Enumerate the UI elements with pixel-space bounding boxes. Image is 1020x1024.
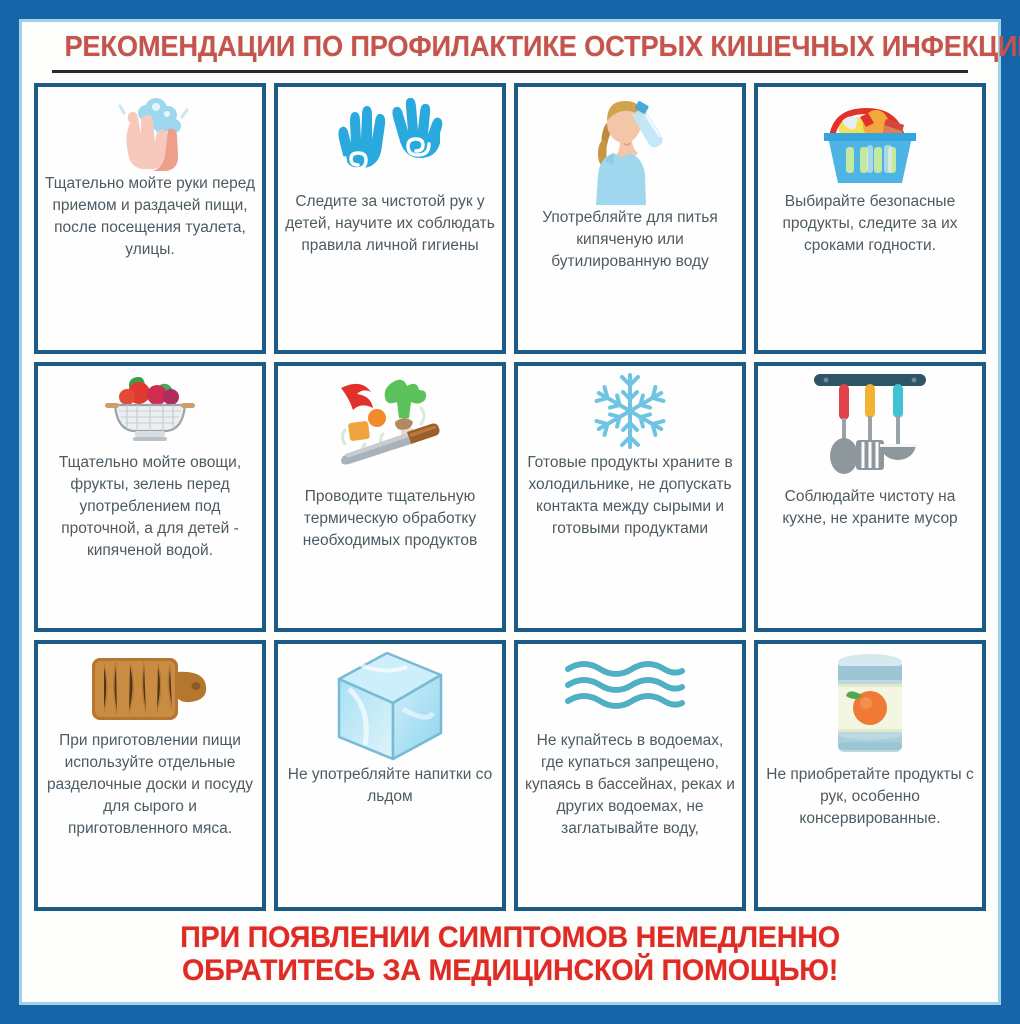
recommendation-card-9[interactable]: При приготовлении пищи используйте отдел… (34, 640, 266, 910)
card-caption: Соблюдайте чистоту на кухне, не храните … (762, 484, 978, 624)
knife-with-vegetables-icon (284, 372, 496, 484)
card-caption: Выбирайте безопасные продукты, следите з… (762, 189, 978, 345)
footer-section: ПРИ ПОЯВЛЕНИИ СИМПТОМОВ НЕМЕДЛЕННО ОБРАТ… (22, 915, 998, 1002)
poster-root: РЕКОМЕНДАЦИИ ПО ПРОФИЛАКТИКЕ ОСТРЫХ КИШЕ… (0, 0, 1020, 1024)
recommendation-card-11[interactable]: Не купайтесь в водоемах, где купаться за… (514, 640, 746, 910)
recommendation-card-3[interactable]: Употребляйте для питья кипяченую или бут… (514, 83, 746, 353)
poster-outer-frame: РЕКОМЕНДАЦИИ ПО ПРОФИЛАКТИКЕ ОСТРЫХ КИШЕ… (10, 10, 1010, 1014)
footer-line-2: ОБРАТИТЕСЬ ЗА МЕДИЦИНСКОЙ ПОМОЩЬЮ! (51, 954, 969, 988)
recommendation-card-12[interactable]: Не приобретайте продукты с рук, особенно… (754, 640, 986, 910)
card-caption: Не употребляйте напитки со льдом (282, 762, 498, 902)
poster-inner-frame: РЕКОМЕНДАЦИИ ПО ПРОФИЛАКТИКЕ ОСТРЫХ КИШЕ… (19, 19, 1001, 1005)
recommendation-card-8[interactable]: Соблюдайте чистоту на кухне, не храните … (754, 362, 986, 632)
footer-line-1: ПРИ ПОЯВЛЕНИИ СИМПТОМОВ НЕМЕДЛЕННО (51, 921, 969, 955)
woman-drinking-bottled-water-icon (524, 93, 736, 205)
card-caption: При приготовлении пищи используйте отдел… (42, 728, 258, 902)
recommendation-card-7[interactable]: Готовые продукты храните в холодильнике,… (514, 362, 746, 632)
canned-food-jar-icon (764, 650, 976, 762)
card-caption: Тщательно мойте овощи, фрукты, зелень пе… (42, 450, 258, 624)
page-title: РЕКОМЕНДАЦИИ ПО ПРОФИЛАКТИКЕ ОСТРЫХ КИШЕ… (64, 32, 955, 62)
recommendation-card-2[interactable]: Следите за чистотой рук у детей, научите… (274, 83, 506, 353)
recommendation-card-10[interactable]: Не употребляйте напитки со льдом (274, 640, 506, 910)
two-blue-hands-icon (284, 93, 496, 189)
card-caption: Проводите тщательную термическую обработ… (282, 484, 498, 624)
water-waves-icon (524, 650, 736, 728)
recommendation-grid: Тщательно мойте руки перед приемом и раз… (22, 73, 998, 914)
kitchen-utensils-rail-icon (764, 372, 976, 484)
washing-hands-soap-icon (44, 93, 256, 171)
card-caption: Не купайтесь в водоемах, где купаться за… (522, 728, 738, 902)
recommendation-card-1[interactable]: Тщательно мойте руки перед приемом и раз… (34, 83, 266, 353)
card-caption: Следите за чистотой рук у детей, научите… (282, 189, 498, 345)
card-caption: Не приобретайте продукты с рук, особенно… (762, 762, 978, 902)
recommendation-card-4[interactable]: Выбирайте безопасные продукты, следите з… (754, 83, 986, 353)
colander-with-vegetables-icon (44, 372, 256, 450)
ice-cube-icon (284, 650, 496, 762)
snowflake-icon (524, 372, 736, 450)
wooden-cutting-board-icon (44, 650, 256, 728)
card-caption: Тщательно мойте руки перед приемом и раз… (42, 171, 258, 345)
card-caption: Употребляйте для питья кипяченую или бут… (522, 205, 738, 345)
card-caption: Готовые продукты храните в холодильнике,… (522, 450, 738, 624)
recommendation-card-6[interactable]: Проводите тщательную термическую обработ… (274, 362, 506, 632)
title-section: РЕКОМЕНДАЦИИ ПО ПРОФИЛАКТИКЕ ОСТРЫХ КИШЕ… (22, 22, 998, 73)
grocery-basket-icon (764, 93, 976, 189)
recommendation-card-5[interactable]: Тщательно мойте овощи, фрукты, зелень пе… (34, 362, 266, 632)
